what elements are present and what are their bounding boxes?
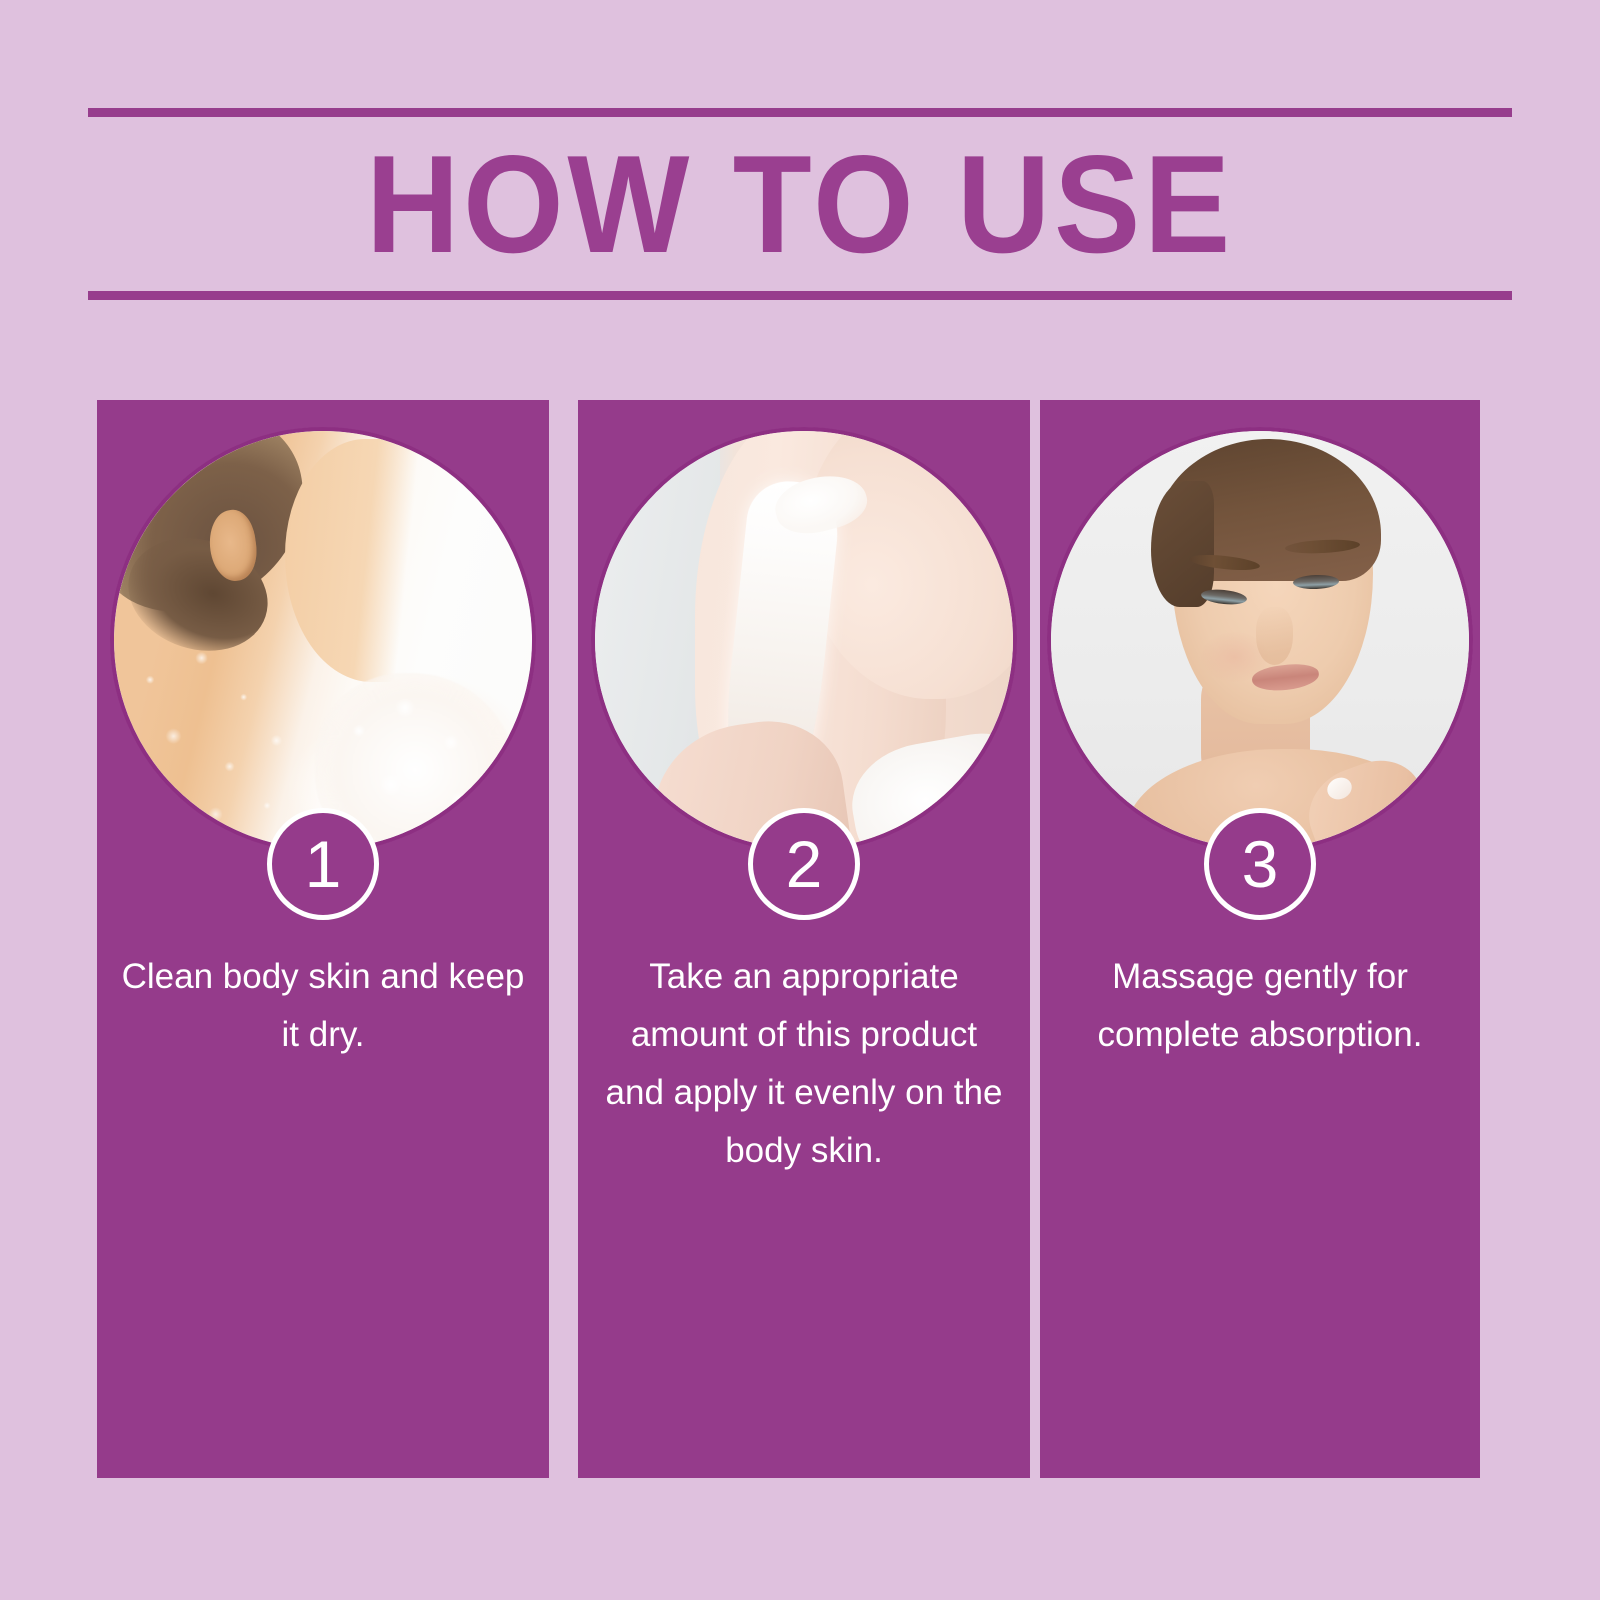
- hair-side-shape: [1151, 481, 1214, 606]
- step-card-2: 2 Take an appropriate amount of this pro…: [578, 400, 1030, 1478]
- step-1-photo-circle: [110, 427, 536, 853]
- page-title: HOW TO USE: [138, 122, 1462, 288]
- woman-touching-smooth-shoulder-photo: [1051, 431, 1469, 849]
- step-3-photo-circle: [1047, 427, 1473, 853]
- step-card-3: 3 Massage gently for complete absorption…: [1040, 400, 1480, 1478]
- step-1-caption: Clean body skin and keep it dry.: [121, 948, 525, 1064]
- steps-row: 1 Clean body skin and keep it dry. 2 Tak…: [0, 400, 1600, 1510]
- infographic-canvas: HOW TO USE 1 Clean body skin and keep it…: [0, 0, 1600, 1600]
- step-2-caption: Take an appropriate amount of this produ…: [602, 948, 1006, 1180]
- step-2-photo-circle: [591, 427, 1017, 853]
- step-1-number-badge: 1: [267, 808, 379, 920]
- lotion-applied-to-arm-photo: [595, 431, 1013, 849]
- step-3-number-badge: 3: [1204, 808, 1316, 920]
- title-rule-bottom: [88, 291, 1512, 300]
- header: HOW TO USE: [88, 108, 1512, 304]
- step-2-number-badge: 2: [748, 808, 860, 920]
- woman-washing-shoulder-with-foam-photo: [114, 431, 532, 849]
- step-3-caption: Massage gently for complete absorption.: [1064, 948, 1456, 1064]
- title-rule-top: [88, 108, 1512, 117]
- step-card-1: 1 Clean body skin and keep it dry.: [97, 400, 549, 1478]
